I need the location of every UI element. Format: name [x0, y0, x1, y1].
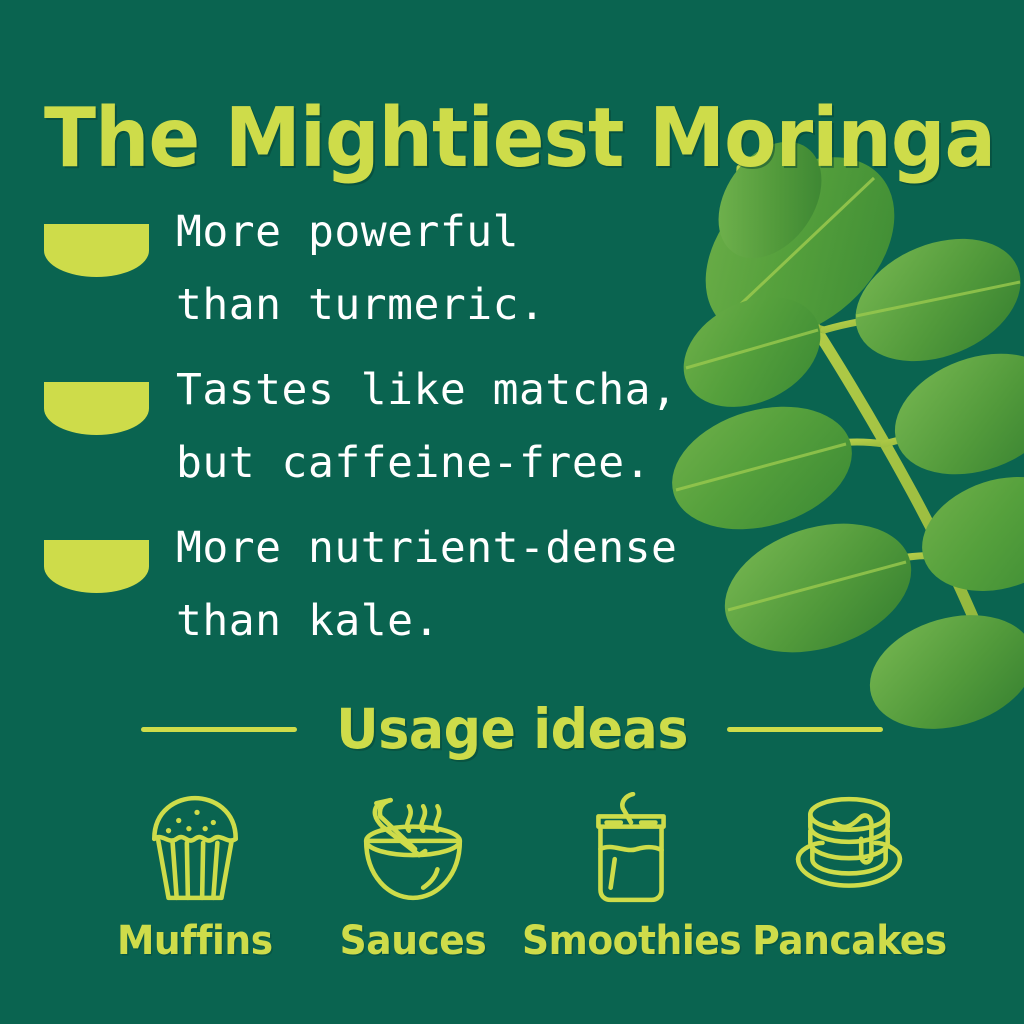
usage-label-smoothies: Smoothies: [522, 918, 741, 964]
divider-rule-right: [727, 727, 883, 732]
benefit-text-line-1: More nutrient-dense: [176, 512, 740, 585]
usage-item-sauces: Sauces: [310, 792, 515, 964]
muffin-icon: [133, 792, 257, 906]
usage-item-muffins: Muffins: [92, 792, 297, 964]
usage-item-pancakes: Pancakes: [747, 792, 952, 964]
moringa-infographic-poster: The Mightiest Moringa More powerful than…: [0, 0, 1024, 1024]
half-circle-bullet-icon: [44, 224, 149, 277]
branch-stem: [740, 168, 1018, 672]
half-circle-bullet-icon: [44, 382, 149, 435]
benefit-text-line-2: but caffeine-free.: [176, 427, 740, 500]
list-item: More nutrient-dense than kale.: [40, 512, 740, 670]
usage-item-smoothies: Smoothies: [529, 792, 734, 964]
half-circle-bullet-icon: [44, 540, 149, 593]
benefit-text-line-2: than kale.: [176, 585, 740, 658]
usage-ideas-row: Muffins Sauces: [92, 792, 952, 964]
page-title: The Mightiest Moringa: [44, 93, 937, 185]
benefits-list: More powerful than turmeric. Tastes like…: [40, 196, 740, 670]
benefit-text-line-1: Tastes like matcha,: [176, 354, 740, 427]
usage-label-muffins: Muffins: [117, 918, 273, 964]
benefit-text-line-2: than turmeric.: [176, 269, 740, 342]
benefit-text-line-1: More powerful: [176, 196, 740, 269]
usage-ideas-heading: Usage ideas: [0, 698, 1024, 760]
list-item: More powerful than turmeric.: [40, 196, 740, 354]
usage-label-pancakes: Pancakes: [752, 918, 946, 964]
list-item: Tastes like matcha, but caffeine-free.: [40, 354, 740, 512]
pancake-stack-icon: [787, 792, 911, 906]
bowl-spoon-icon: [351, 792, 475, 906]
usage-label-sauces: Sauces: [340, 918, 487, 964]
usage-ideas-title: Usage ideas: [336, 698, 688, 760]
divider-rule-left: [141, 727, 297, 732]
mason-jar-straw-icon: [569, 792, 693, 906]
